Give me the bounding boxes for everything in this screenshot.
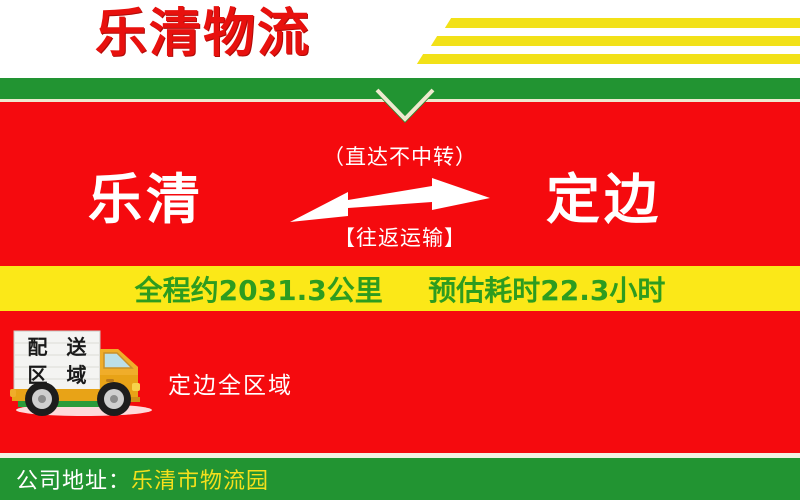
route-note-direct: （直达不中转） <box>0 141 800 171</box>
stripe-2 <box>431 36 800 46</box>
trip-info-text: 全程约2031.3公里 预估耗时22.3小时 <box>135 269 666 309</box>
banner-footer: 公司地址： 乐清市物流园 <box>0 458 800 500</box>
address-label: 公司地址： <box>16 463 131 495</box>
delivery-truck-icon <box>6 327 158 419</box>
distance-value: 全程约2031.3公里 <box>135 274 383 307</box>
origin-city: 乐清 <box>88 170 204 230</box>
banner-header: 乐清物流 <box>0 0 800 78</box>
company-title: 乐清物流 <box>95 4 311 64</box>
coverage-area-text: 定边全区域 <box>168 366 293 400</box>
duration-value: 预估耗时22.3小时 <box>428 274 665 307</box>
stripe-1 <box>445 18 800 28</box>
address-value: 乐清市物流园 <box>131 463 269 495</box>
destination-city: 定边 <box>546 170 662 230</box>
logistics-banner: 乐清物流 （直达不中转） 乐清 定边 【往返运输】 全程约2031.3公里 预估… <box>0 0 800 500</box>
stripe-3 <box>417 54 800 64</box>
decorative-stripes <box>410 0 800 78</box>
chevron-down-icon <box>371 78 439 123</box>
double-arrow-icon <box>290 176 490 226</box>
trip-info-band: 全程约2031.3公里 预估耗时22.3小时 <box>0 266 800 311</box>
route-note-roundtrip: 【往返运输】 <box>0 222 800 252</box>
